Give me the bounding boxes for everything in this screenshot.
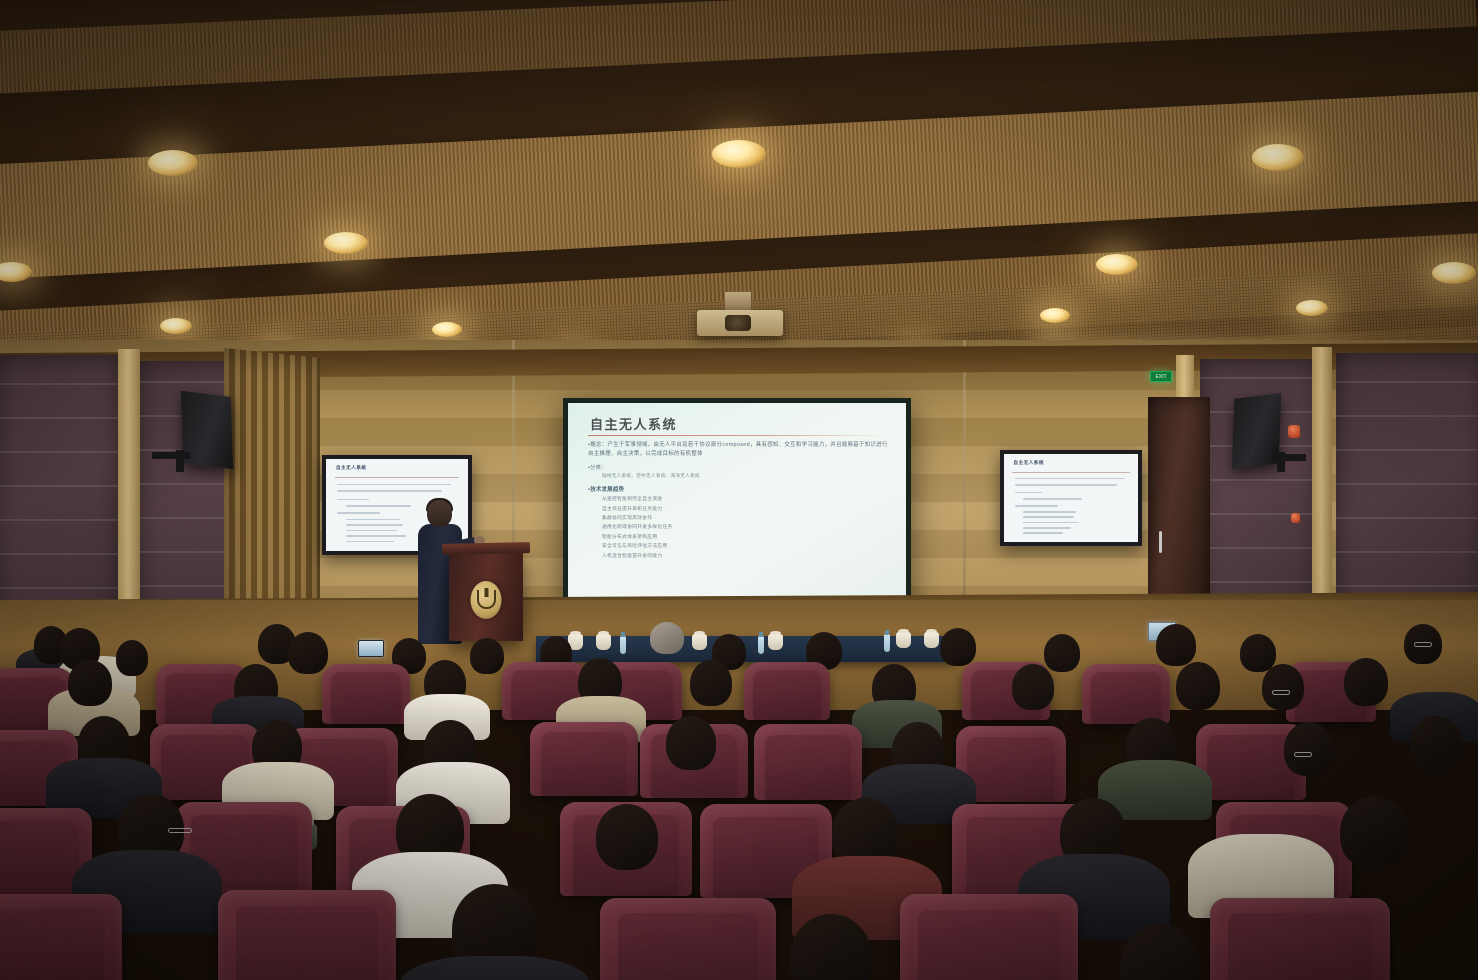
downlight-icon bbox=[1040, 308, 1070, 323]
right-monitor-rule bbox=[1012, 472, 1130, 473]
slide-bullet-concept: •概念：产生于军事领域，由无人平台及若干协议部分composed，具有感知、交互… bbox=[588, 441, 890, 459]
attendee-head bbox=[666, 716, 716, 770]
fire-alarm-icon bbox=[1288, 425, 1300, 438]
right-monitor-title: 自主无人系统 bbox=[1013, 460, 1044, 466]
slat-curtain bbox=[224, 348, 320, 630]
right-monitor-line bbox=[1023, 516, 1074, 518]
seat[interactable] bbox=[530, 722, 638, 796]
slide-bullet-classification: •分类： bbox=[588, 464, 890, 471]
door-handle[interactable] bbox=[1159, 531, 1162, 553]
downlight-icon bbox=[160, 318, 192, 334]
left-monitor-line bbox=[346, 541, 394, 543]
exit-sign: EXIT bbox=[1150, 371, 1172, 382]
seat[interactable] bbox=[1082, 664, 1170, 724]
attendee-head bbox=[470, 638, 504, 674]
presenter-head bbox=[427, 500, 452, 527]
left-monitor-title: 自主无人系统 bbox=[336, 465, 367, 471]
attendee-head bbox=[288, 632, 328, 674]
attendee-head bbox=[1240, 634, 1276, 672]
slide-trend-item: 从遥控智能到完全自主演进 bbox=[602, 496, 890, 502]
speaker-bracket bbox=[152, 452, 190, 459]
attendee-phone bbox=[358, 640, 384, 657]
attendee-head bbox=[940, 628, 976, 666]
left-monitor-rule bbox=[335, 477, 460, 478]
left-monitor-line bbox=[346, 535, 406, 537]
projection-screen: 自主无人系统 •概念：产生于军事领域，由无人平台及若干协议部分composed，… bbox=[568, 403, 906, 609]
attendee-head bbox=[1340, 796, 1408, 868]
projector bbox=[697, 310, 783, 336]
downlight-icon bbox=[1096, 254, 1138, 275]
podium-lectern-top bbox=[442, 542, 530, 555]
downlight-icon bbox=[1296, 300, 1328, 316]
slide-trend-item: 人机混合智能提升协同能力 bbox=[602, 553, 890, 559]
fire-alarm-icon bbox=[1291, 513, 1300, 523]
right-monitor-line bbox=[1015, 492, 1042, 494]
attendee-head bbox=[690, 660, 732, 706]
downlight-icon bbox=[712, 140, 766, 168]
slide-trends-heading: •技术发展趋势 bbox=[588, 485, 890, 493]
downlight-icon bbox=[1252, 144, 1304, 171]
seat[interactable] bbox=[900, 894, 1078, 980]
slide-trend-item: 自主作业提升单机任务能力 bbox=[602, 506, 890, 512]
right-monitor-line bbox=[1023, 511, 1077, 513]
attendee-head bbox=[1044, 634, 1080, 672]
left-monitor-line bbox=[337, 484, 451, 486]
seat[interactable] bbox=[744, 662, 830, 720]
downlight-icon bbox=[1432, 262, 1476, 284]
right-monitor-line bbox=[1023, 498, 1082, 500]
right-monitor-line bbox=[1023, 522, 1079, 524]
attendee-glasses bbox=[1272, 690, 1290, 695]
attendee-head bbox=[1344, 658, 1388, 706]
slide-trend-item: 安全可信与风险评估方法应用 bbox=[602, 543, 890, 549]
auditorium-scene: EXIT 自主无人系统 •概念：产生于军事领域，由无人平台及若干协议部分comp… bbox=[0, 0, 1478, 980]
attendee-head bbox=[650, 622, 684, 654]
seat[interactable] bbox=[218, 890, 396, 980]
speaker-bracket bbox=[1277, 452, 1285, 472]
left-monitor-line bbox=[346, 524, 403, 526]
left-monitor-line bbox=[337, 499, 368, 501]
slide-body: •概念：产生于军事领域，由无人平台及若干协议部分composed，具有感知、交互… bbox=[588, 441, 890, 559]
attendee-head bbox=[116, 640, 148, 676]
slide-title-rule bbox=[588, 435, 886, 436]
seat[interactable] bbox=[0, 894, 122, 980]
attendee-head bbox=[1410, 716, 1462, 772]
downlight-icon bbox=[324, 232, 368, 254]
seat[interactable] bbox=[1210, 898, 1390, 980]
slide-trend-item: 集群协同实现高效协作 bbox=[602, 515, 890, 521]
projection-screen-frame: 自主无人系统 •概念：产生于军事领域，由无人平台及若干协议部分composed，… bbox=[563, 398, 911, 614]
left-monitor-line bbox=[346, 519, 400, 521]
attendee-glasses bbox=[1414, 642, 1432, 647]
audience-seating bbox=[0, 612, 1478, 980]
left-monitor-line bbox=[337, 490, 442, 492]
attendee-head bbox=[1284, 722, 1334, 776]
attendee-shoulders bbox=[400, 956, 590, 980]
right-display-monitor: 自主无人系统 bbox=[1000, 450, 1142, 546]
right-monitor-screen: 自主无人系统 bbox=[1004, 454, 1138, 542]
projector-mount bbox=[725, 292, 751, 312]
attendee-head bbox=[1262, 664, 1304, 710]
seat[interactable] bbox=[322, 664, 410, 724]
slide-title: 自主无人系统 bbox=[590, 414, 677, 433]
attendee-head bbox=[1156, 624, 1196, 666]
downlight-icon bbox=[432, 322, 462, 337]
right-monitor-line bbox=[1015, 478, 1125, 480]
speaker-bracket bbox=[176, 450, 184, 472]
attendee-head bbox=[1012, 664, 1054, 710]
downlight-icon bbox=[148, 150, 198, 176]
attendee-glasses bbox=[168, 828, 192, 833]
slide-trend-item: 智能分布式体系架构应用 bbox=[602, 534, 890, 540]
slide-trend-item: 通用化跨域协同开发多样化任务 bbox=[602, 524, 890, 530]
right-monitor-line bbox=[1015, 505, 1058, 507]
left-monitor-line bbox=[337, 512, 380, 514]
slide-classification-items: 陆地无人系统、空中无人系统、海洋无人系统 bbox=[602, 473, 890, 479]
right-monitor-line bbox=[1023, 532, 1063, 534]
right-monitor-line bbox=[1015, 484, 1117, 486]
seat[interactable] bbox=[754, 724, 862, 800]
seat[interactable] bbox=[600, 898, 776, 980]
left-monitor-line bbox=[346, 505, 411, 507]
right-monitor-line bbox=[1023, 527, 1071, 529]
attendee-head bbox=[68, 660, 112, 706]
attendee-head bbox=[1176, 662, 1220, 710]
exit-sign-label: EXIT bbox=[1155, 374, 1166, 380]
left-monitor-line bbox=[346, 530, 397, 532]
projector-lens-icon bbox=[725, 315, 751, 331]
attendee-head bbox=[596, 804, 658, 870]
attendee-glasses bbox=[1294, 752, 1312, 757]
